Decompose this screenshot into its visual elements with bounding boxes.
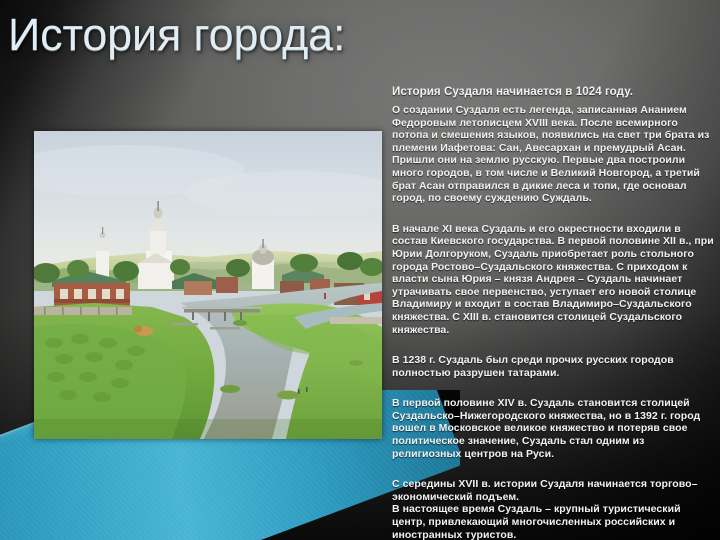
paragraph-7: В настоящее время Суздаль – крупный тури… <box>392 503 714 540</box>
paragraph-3: В начале XI века Суздаль и его окрестнос… <box>392 223 714 336</box>
paragraph-5: В первой половине XIV в. Суздаль станови… <box>392 397 714 460</box>
paragraph-4: В 1238 г. Суздаль был среди прочих русск… <box>392 354 714 379</box>
paragraph-6: С середины XVII в. истории Суздаля начин… <box>392 478 714 503</box>
presentation-slide: История города: <box>0 0 720 540</box>
slide-body-text: История Суздаля начинается в 1024 году. … <box>392 84 714 540</box>
paragraph-2: О создании Суздаля есть легенда, записан… <box>392 104 714 205</box>
photo-illustration <box>34 131 382 439</box>
paragraph-1: История Суздаля начинается в 1024 году. <box>392 84 714 99</box>
slide-title: История города: <box>8 8 708 62</box>
suzdal-panorama-photo <box>34 131 382 439</box>
